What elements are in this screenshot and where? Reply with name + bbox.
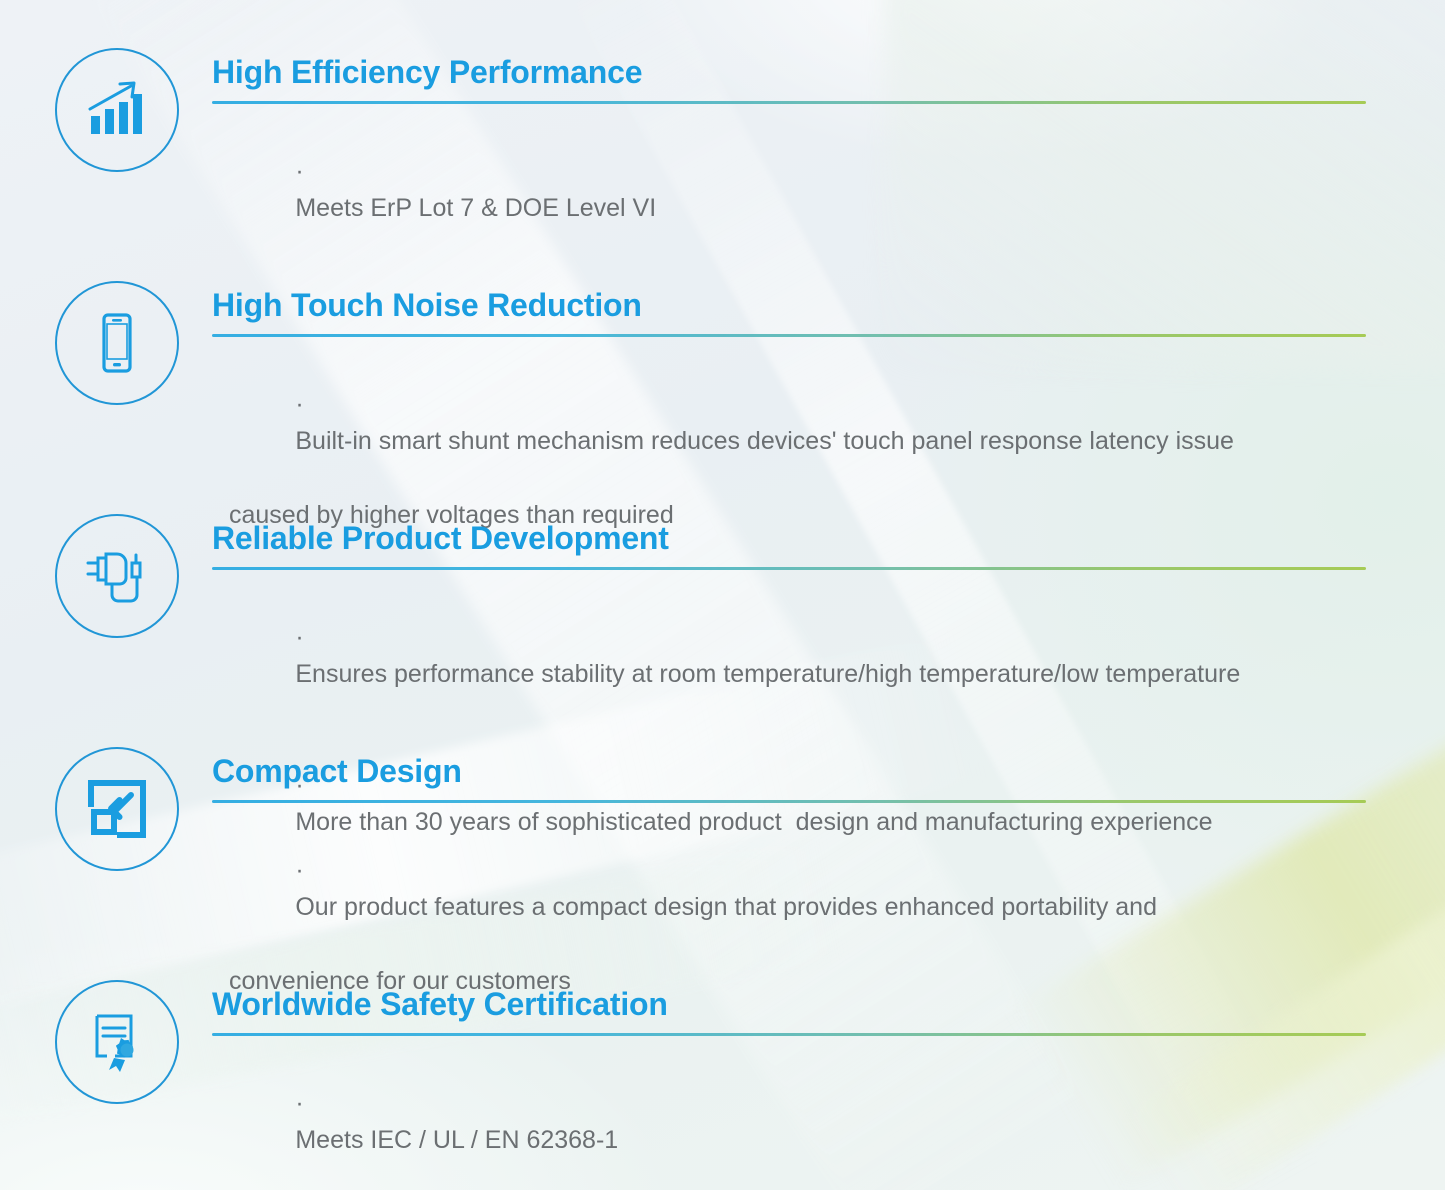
feature-title: High Efficiency Performance	[212, 54, 1445, 91]
feature-title: Compact Design	[212, 753, 1445, 790]
feature-highlights-page: High Efficiency Performance · Meets ErP …	[0, 0, 1445, 1190]
feature-icon-wrapper	[55, 747, 179, 871]
power-adapter-icon	[85, 544, 149, 608]
feature-text-column: Worldwide Safety Certification · Meets I…	[212, 980, 1445, 1190]
compact-resize-icon	[85, 777, 149, 841]
bullet-marker: ·	[295, 856, 303, 884]
feature-divider	[212, 334, 1366, 337]
feature-title: Reliable Product Development	[212, 520, 1445, 557]
certificate-seal-icon	[85, 1010, 149, 1074]
feature-bullet: · Meets IEC / UL / EN 62368-1	[212, 1048, 1445, 1190]
feature-icon-wrapper	[55, 48, 179, 172]
feature-text-column: High Efficiency Performance · Meets ErP …	[212, 48, 1445, 264]
bullet-text: Our product features a compact design th…	[295, 893, 1157, 921]
bullet-text: Built-in smart shunt mechanism reduces d…	[295, 427, 1234, 455]
bullet-marker: ·	[295, 623, 303, 651]
feature-item-high-efficiency-performance: High Efficiency Performance · Meets ErP …	[0, 48, 1445, 264]
feature-bullet: · Ensures performance stability at room …	[212, 582, 1445, 730]
feature-bullet-list: · Meets ErP Lot 7 & DOE Level VI	[212, 116, 1445, 264]
smartphone-icon	[85, 311, 149, 375]
feature-divider	[212, 800, 1366, 803]
feature-title: Worldwide Safety Certification	[212, 986, 1445, 1023]
bullet-text: Ensures performance stability at room te…	[295, 660, 1240, 688]
bullet-text: Meets IEC / UL / EN 62368-1	[295, 1126, 618, 1154]
feature-divider	[212, 1033, 1366, 1036]
bullet-marker: ·	[295, 1089, 303, 1117]
feature-bullet: · Meets ErP Lot 7 & DOE Level VI	[212, 116, 1445, 264]
bullet-marker: ·	[295, 390, 303, 418]
bar-chart-growth-icon	[85, 78, 149, 142]
feature-divider	[212, 567, 1366, 570]
bullet-marker: ·	[295, 157, 303, 185]
feature-divider	[212, 101, 1366, 104]
feature-icon-wrapper	[55, 980, 179, 1104]
bullet-text: Meets ErP Lot 7 & DOE Level VI	[295, 194, 656, 222]
feature-icon-wrapper	[55, 281, 179, 405]
feature-item-worldwide-safety-certification: Worldwide Safety Certification · Meets I…	[0, 980, 1445, 1190]
feature-title: High Touch Noise Reduction	[212, 287, 1445, 324]
feature-bullet-list: · Meets IEC / UL / EN 62368-1	[212, 1048, 1445, 1190]
feature-icon-wrapper	[55, 514, 179, 638]
